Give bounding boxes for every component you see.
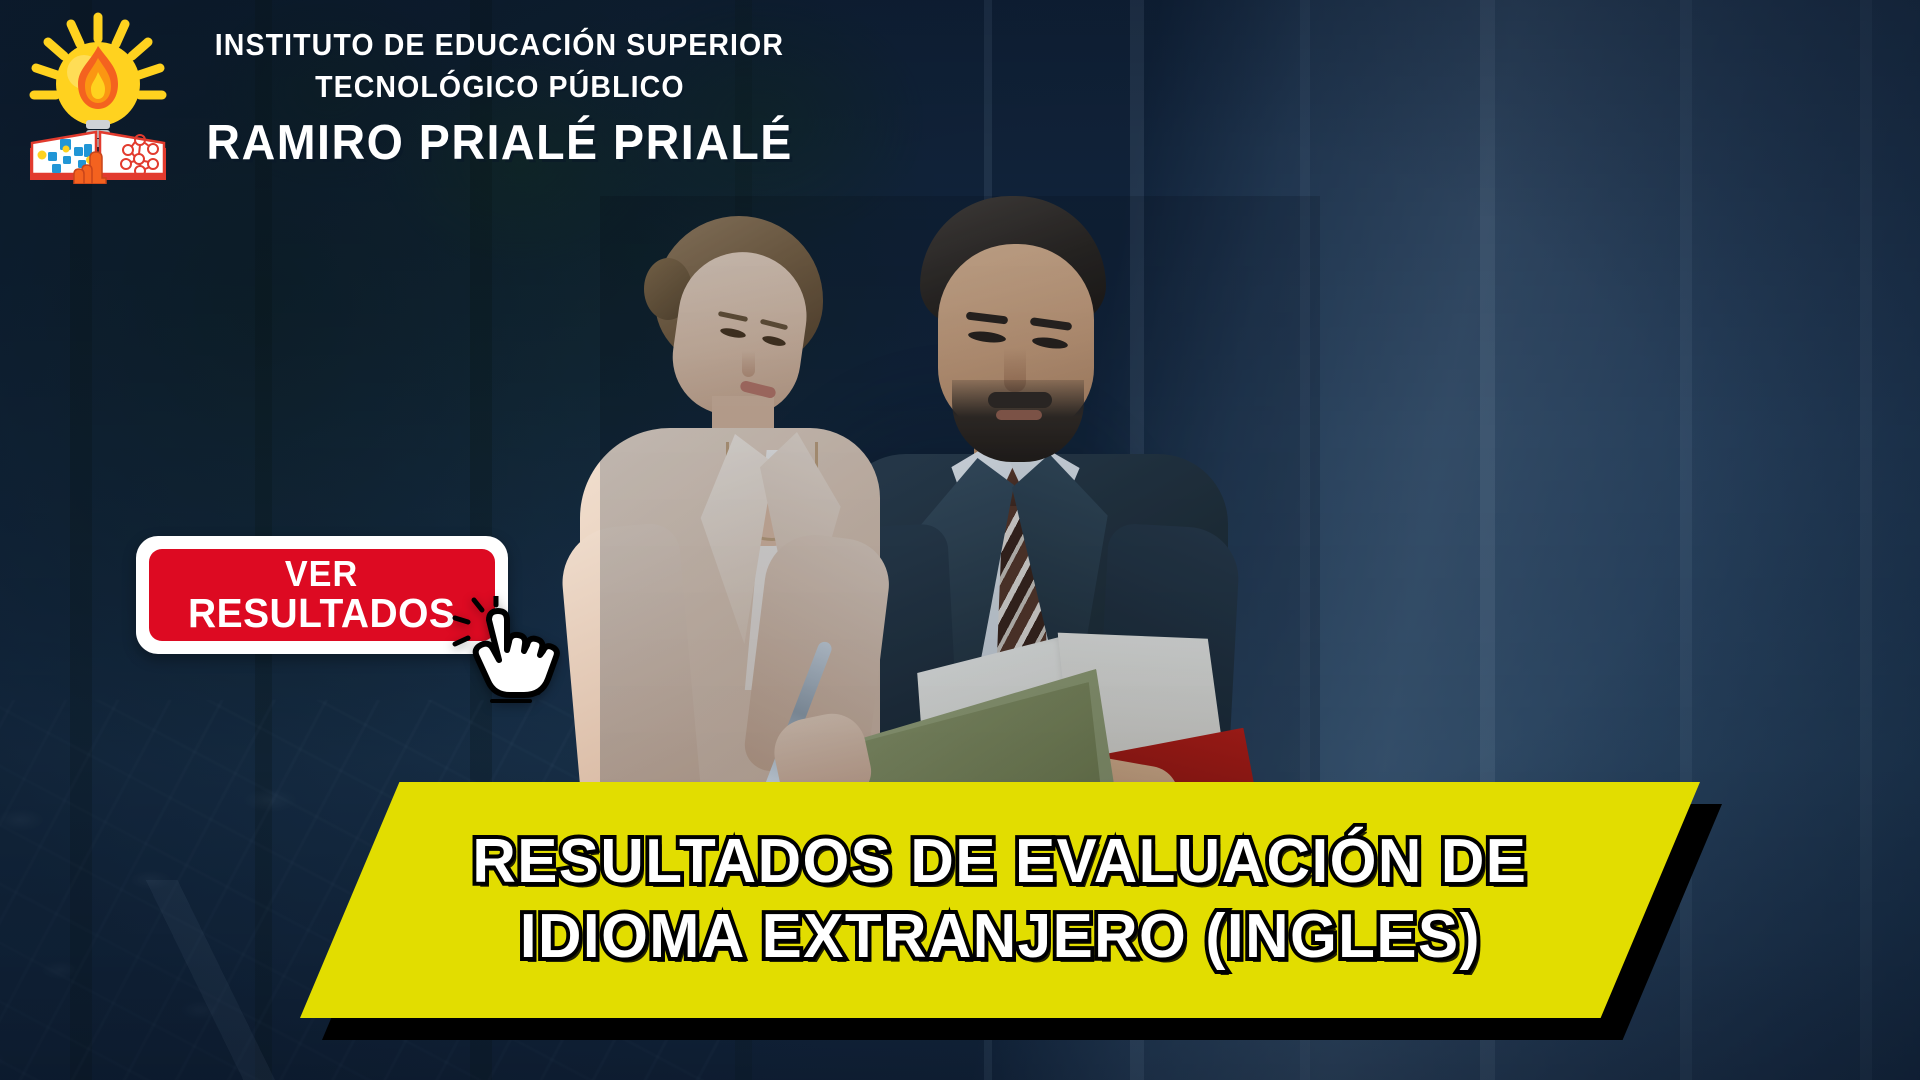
cta-label-line-1: VER bbox=[285, 556, 358, 591]
institution-brand-lockup: INSTITUTO DE EDUCACIÓN SUPERIOR TECNOLÓG… bbox=[22, 12, 809, 184]
promo-banner-canvas: INSTITUTO DE EDUCACIÓN SUPERIOR TECNOLÓG… bbox=[0, 0, 1920, 1080]
pointing-hand-click-cursor bbox=[452, 596, 564, 720]
banner-headline-line-1: RESULTADOS DE EVALUACIÓN DE bbox=[472, 829, 1527, 896]
brand-line-1: INSTITUTO DE EDUCACIÓN SUPERIOR bbox=[215, 29, 784, 60]
ver-resultados-button-face[interactable]: VER RESULTADOS bbox=[149, 549, 495, 641]
brand-institution-name: RAMIRO PRIALÉ PRIALÉ bbox=[206, 119, 792, 168]
lightbulb-flame-open-book-logo bbox=[22, 12, 174, 184]
banner-text-block: RESULTADOS DE EVALUACIÓN DE IDIOMA EXTRA… bbox=[300, 782, 1700, 1018]
banner-headline-line-2: IDIOMA EXTRANJERO (INGLES) bbox=[519, 904, 1480, 971]
headline-banner: RESULTADOS DE EVALUACIÓN DE IDIOMA EXTRA… bbox=[300, 782, 1740, 1040]
man-lips bbox=[996, 410, 1042, 420]
woman-nose bbox=[742, 351, 755, 377]
brand-text-block: INSTITUTO DE EDUCACIÓN SUPERIOR TECNOLÓG… bbox=[190, 29, 809, 168]
brand-line-2: TECNOLÓGICO PÚBLICO bbox=[315, 71, 685, 102]
man-moustache bbox=[988, 392, 1052, 408]
cta-label-line-2: RESULTADOS bbox=[188, 593, 455, 634]
